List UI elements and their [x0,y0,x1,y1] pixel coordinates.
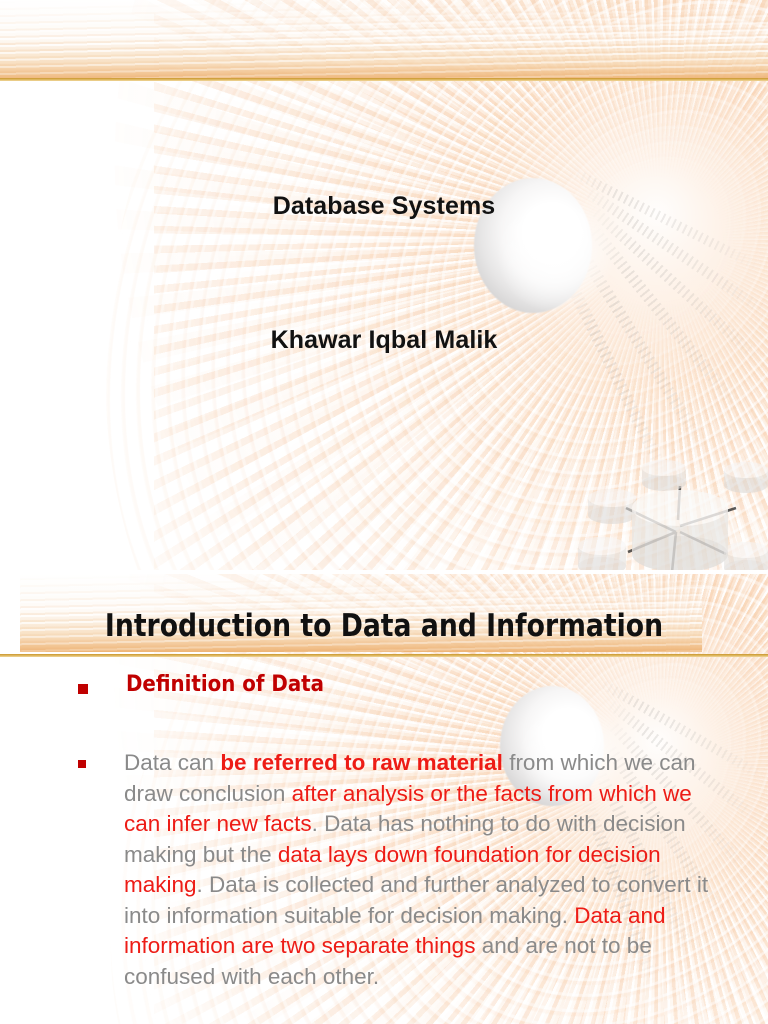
bullet-item-data-paragraph: Data can be referred to raw material fro… [78,748,726,992]
film-strip-icon [563,276,671,481]
text-run: Data can [124,750,220,775]
slide1-background-artwork [0,0,768,570]
slide-title: Database Systems Khawar Iqbal Malik [0,0,768,570]
slide1-subtitle: Khawar Iqbal Malik [0,326,768,355]
red-square-bullet-icon [78,684,88,694]
slide2-gold-divider [0,654,768,657]
bullet-paragraph: Data can be referred to raw material fro… [124,748,726,992]
radial-swirl-icon [138,0,768,570]
document-page: Database Systems Khawar Iqbal Malik Intr… [0,0,768,1024]
red-square-bullet-icon [78,760,86,768]
bullet-item-definition-of-data: Definition of Data [78,672,718,697]
swirl-rays-icon [154,0,768,570]
slide1-title: Database Systems [0,192,768,221]
slide2-heading: Introduction to Data and Information [54,608,714,644]
swirl-arcs-icon [0,0,768,570]
slide1-top-accent-band [0,0,768,80]
slide1-gold-divider [0,78,768,81]
band-streaks [0,0,768,80]
bullet-label: Definition of Data [126,672,324,697]
film-strip-icon [587,223,744,412]
database-cluster-icon [568,446,768,570]
text-run: be referred to raw material [220,750,503,775]
swirl-fan-icon [114,0,768,570]
